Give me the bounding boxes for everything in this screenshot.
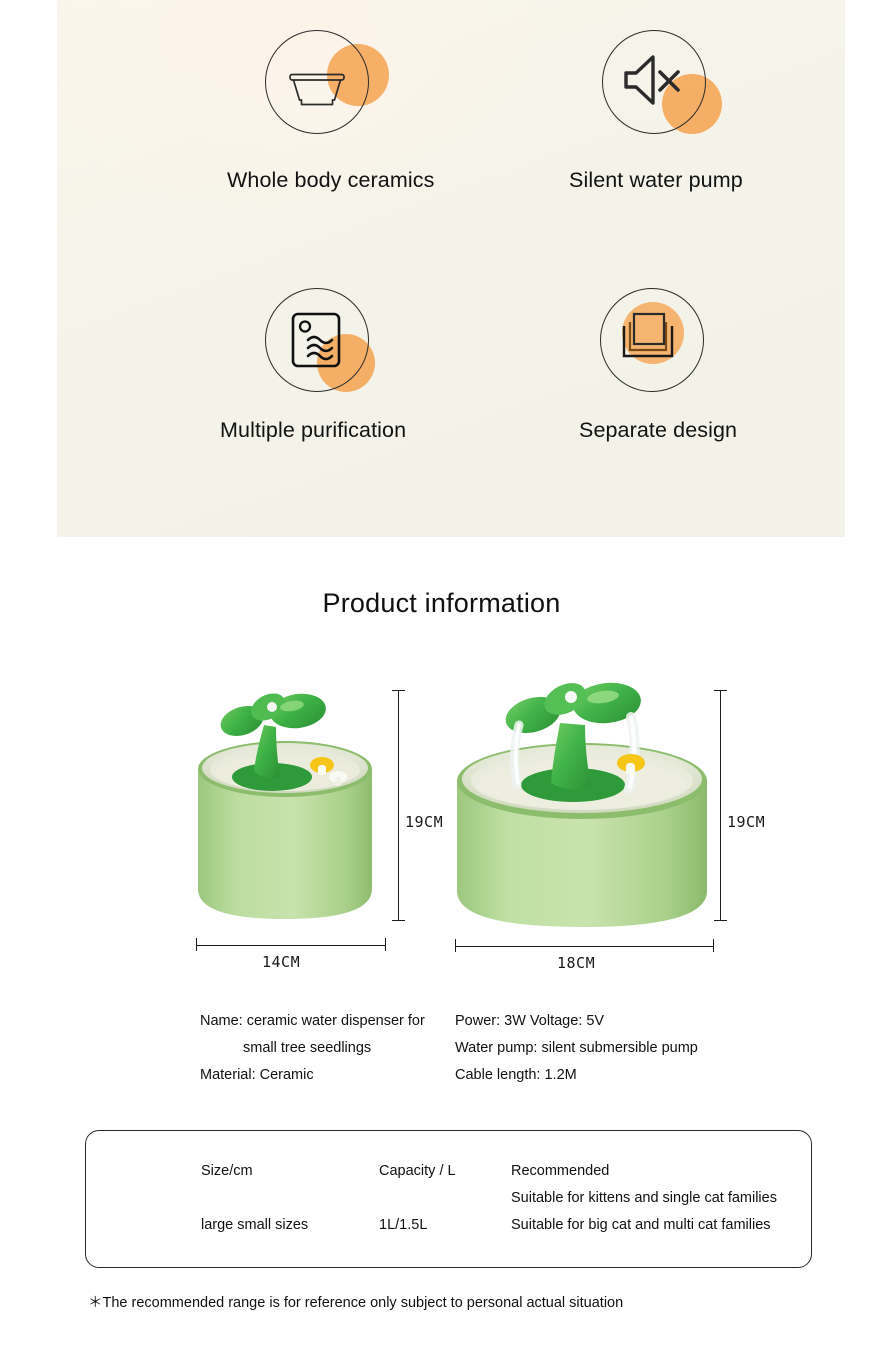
dimension-label-height-small: 19CM (405, 813, 443, 831)
spec-line-cable-length: Cable length: 1.2M (455, 1062, 785, 1089)
table-row: Suitable for big cat and multi cat famil… (511, 1217, 771, 1233)
ceramic-bowl-icon (265, 30, 373, 138)
recommendation-table: Size/cm Capacity / L Recommended Suitabl… (86, 1131, 813, 1269)
feature-label: Multiple purification (220, 418, 495, 443)
product-image-large (445, 673, 720, 948)
table-row: 1L/1.5L (379, 1217, 427, 1233)
speaker-mute-glyph (602, 30, 706, 134)
muted-speaker-icon (602, 30, 710, 138)
spec-column-right: Power: 3W Voltage: 5V Water pump: silent… (455, 1008, 785, 1089)
bowl-glyph (265, 30, 369, 134)
recommendation-table-box: Size/cm Capacity / L Recommended Suitabl… (85, 1130, 812, 1268)
feature-label: Silent water pump (569, 168, 842, 193)
dimension-cap (714, 920, 727, 921)
filter-waves-icon (265, 288, 373, 396)
product-image-small (180, 673, 390, 943)
spec-line-material: Material: Ceramic (200, 1062, 450, 1089)
dimension-cap (713, 939, 714, 952)
spec-line-power: Power: 3W Voltage: 5V (455, 1008, 785, 1035)
separate-tray-glyph (600, 288, 704, 392)
spec-line-water-pump: Water pump: silent submersible pump (455, 1035, 785, 1062)
table-row: large small sizes (201, 1217, 308, 1233)
feature-label: Whole body ceramics (227, 168, 502, 193)
feature-item-whole-body-ceramics: Whole body ceramics (172, 30, 502, 193)
dimension-line-height-small (398, 690, 399, 920)
dimension-label-width-small: 14CM (262, 953, 300, 971)
dimension-cap (392, 920, 405, 921)
footnote: ＊The recommended range is for reference … (88, 1291, 623, 1312)
table-header-size: Size/cm (201, 1163, 253, 1179)
feature-item-silent-water-pump: Silent water pump (512, 30, 842, 193)
dimension-line-height-large (720, 690, 721, 920)
spec-line-name-cont: small tree seedlings (200, 1035, 450, 1062)
spec-column-left: Name: ceramic water dispenser for small … (200, 1008, 450, 1089)
dimension-line-width-small (196, 945, 385, 946)
feature-item-separate-design: Separate design (507, 288, 837, 443)
dimension-cap (385, 938, 386, 951)
feature-label: Separate design (579, 418, 837, 443)
dimension-label-height-large: 19CM (727, 813, 765, 831)
purifier-glyph (265, 288, 369, 392)
feature-panel: Whole body ceramics Silent water pump (57, 0, 845, 537)
table-header-capacity: Capacity / L (379, 1163, 456, 1179)
table-header-recommended: Recommended (511, 1163, 609, 1179)
specifications: Name: ceramic water dispenser for small … (0, 1008, 883, 1098)
table-row: Suitable for kittens and single cat fami… (511, 1190, 777, 1206)
page-title: Product information (0, 588, 883, 619)
spec-line-name: Name: ceramic water dispenser for (200, 1008, 450, 1035)
dimension-label-width-large: 18CM (557, 954, 595, 972)
feature-item-multiple-purification: Multiple purification (165, 288, 495, 443)
dimension-line-width-large (455, 946, 713, 947)
product-dimension-diagrams: 19CM 14CM (0, 655, 883, 995)
feature-grid: Whole body ceramics Silent water pump (57, 0, 845, 537)
stacked-layers-icon (600, 288, 708, 396)
